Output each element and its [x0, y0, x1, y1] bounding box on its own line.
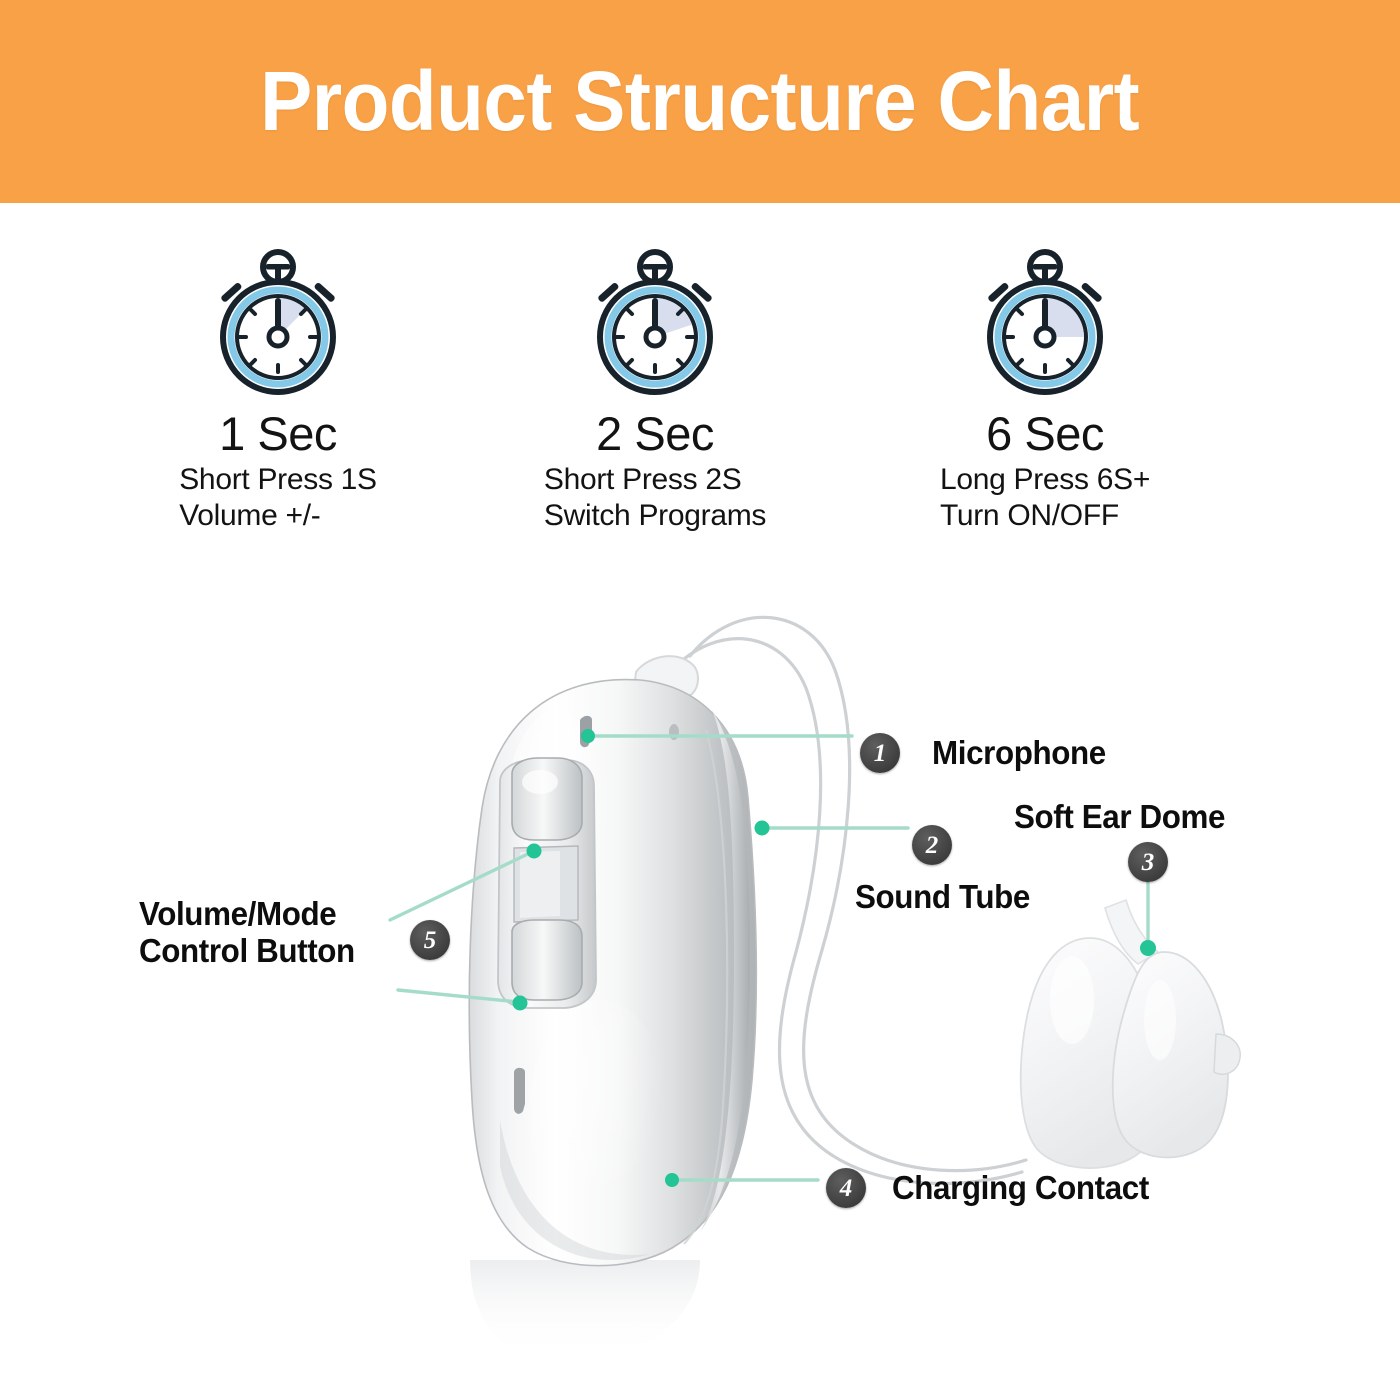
callout-label-soft-ear-dome: Soft Ear Dome [1014, 798, 1225, 836]
timer-item-1-sec: 1 Sec Short Press 1S Volume +/- [113, 245, 443, 534]
timer-desc-line1: Short Press 1S [179, 462, 377, 498]
callout-badge-2: 2 [912, 825, 952, 865]
callout-badge-3: 3 [1128, 842, 1168, 882]
leader-dot-control-button-bottom [513, 996, 528, 1011]
timer-desc-line2: Turn ON/OFF [940, 498, 1150, 534]
timer-desc-line1: Long Press 6S+ [940, 462, 1150, 498]
header-banner: Product Structure Chart [0, 0, 1400, 203]
callout-microphone: 1 Microphone [860, 733, 1115, 773]
volume-mode-control-button [498, 758, 596, 1008]
timer-desc-line2: Switch Programs [544, 498, 766, 534]
leader-dot-sound-tube [755, 821, 770, 836]
callout-badge-sound-tube: 2 [912, 825, 952, 865]
product-diagram [0, 560, 1400, 1400]
callout-badge-ear-dome: 3 [1128, 842, 1168, 882]
button-timing-legend: 1 Sec Short Press 1S Volume +/- [0, 245, 1400, 545]
callout-badge-4: 4 [826, 1168, 866, 1208]
timer-duration: 6 Sec [986, 409, 1104, 458]
callout-label-ear-dome-wrap: Soft Ear Dome [1014, 798, 1236, 836]
callout-label-volume-mode-control-button: Volume/Mode Control Button [139, 896, 396, 970]
timer-duration: 2 Sec [596, 409, 714, 458]
callout-label-sound-tube-wrap: Sound Tube [855, 878, 1039, 916]
stopwatch-icon [970, 245, 1120, 405]
timer-duration: 1 Sec [219, 409, 337, 458]
callout-label-control-button-wrap: Volume/Mode Control Button [139, 896, 409, 970]
soft-ear-dome [1021, 900, 1241, 1168]
callout-charging-contact: 4 Charging Contact [826, 1168, 1162, 1208]
device-reflection [470, 1260, 700, 1360]
callout-badge-control-button: 5 [410, 920, 450, 960]
stopwatch-icon [580, 245, 730, 405]
timer-desc-line2: Volume +/- [179, 498, 377, 534]
leader-dot-microphone [581, 729, 595, 743]
product-illustration [0, 560, 1400, 1400]
timer-item-2-sec: 2 Sec Short Press 2S Switch Programs [490, 245, 820, 534]
callout-badge-1: 1 [860, 733, 900, 773]
callout-label-charging-contact: Charging Contact [892, 1169, 1149, 1207]
callout-label-microphone: Microphone [932, 734, 1106, 772]
charging-contact-slot [514, 1068, 525, 1114]
callout-label-sound-tube: Sound Tube [855, 878, 1030, 916]
leader-dot-control-button-top [527, 844, 542, 859]
timer-item-6-sec: 6 Sec Long Press 6S+ Turn ON/OFF [880, 245, 1210, 534]
timer-desc-line1: Short Press 2S [544, 462, 766, 498]
stopwatch-icon [203, 245, 353, 405]
leader-dot-charging-contact [665, 1173, 679, 1187]
leader-dot-ear-dome [1140, 940, 1156, 956]
callout-badge-5: 5 [410, 920, 450, 960]
page-title: Product Structure Chart [260, 53, 1139, 150]
